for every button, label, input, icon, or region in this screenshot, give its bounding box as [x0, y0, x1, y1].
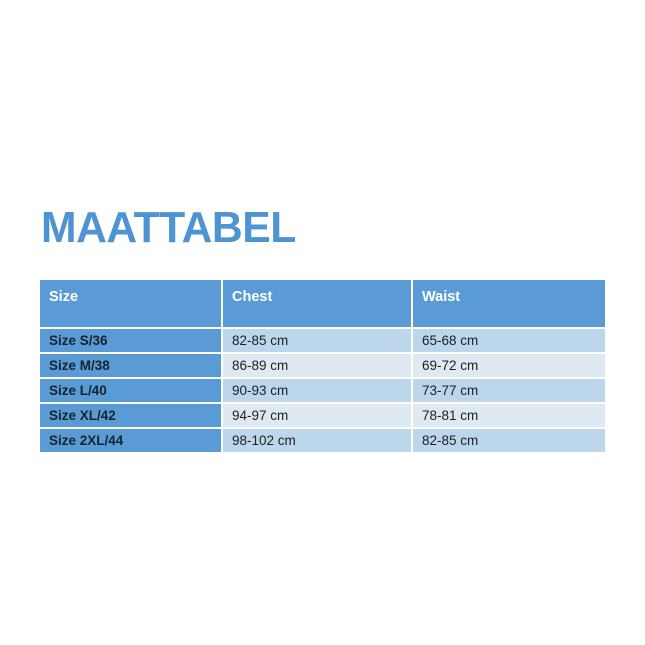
table-body: Size S/36 82-85 cm 65-68 cm Size M/38 86… [40, 328, 605, 452]
table-row: Size M/38 86-89 cm 69-72 cm [40, 353, 605, 378]
column-header-waist: Waist [412, 280, 605, 328]
cell-size: Size 2XL/44 [40, 428, 222, 452]
cell-size: Size S/36 [40, 328, 222, 353]
cell-waist: 73-77 cm [412, 378, 605, 403]
table-header-row: Size Chest Waist [40, 280, 605, 328]
cell-waist: 65-68 cm [412, 328, 605, 353]
cell-size: Size L/40 [40, 378, 222, 403]
table-row: Size XL/42 94-97 cm 78-81 cm [40, 403, 605, 428]
cell-chest: 86-89 cm [222, 353, 412, 378]
cell-waist: 69-72 cm [412, 353, 605, 378]
cell-waist: 78-81 cm [412, 403, 605, 428]
cell-chest: 94-97 cm [222, 403, 412, 428]
cell-waist: 82-85 cm [412, 428, 605, 452]
page-title: MAATTABEL [41, 203, 296, 253]
cell-chest: 90-93 cm [222, 378, 412, 403]
size-chart-table: Size Chest Waist Size S/36 82-85 cm 65-6… [40, 280, 605, 452]
table-row: Size L/40 90-93 cm 73-77 cm [40, 378, 605, 403]
size-chart-page: MAATTABEL Size Chest Waist Size S/36 82-… [0, 0, 645, 645]
cell-chest: 82-85 cm [222, 328, 412, 353]
cell-size: Size M/38 [40, 353, 222, 378]
table-row: Size 2XL/44 98-102 cm 82-85 cm [40, 428, 605, 452]
column-header-size: Size [40, 280, 222, 328]
cell-chest: 98-102 cm [222, 428, 412, 452]
column-header-chest: Chest [222, 280, 412, 328]
table-header: Size Chest Waist [40, 280, 605, 328]
table-row: Size S/36 82-85 cm 65-68 cm [40, 328, 605, 353]
cell-size: Size XL/42 [40, 403, 222, 428]
